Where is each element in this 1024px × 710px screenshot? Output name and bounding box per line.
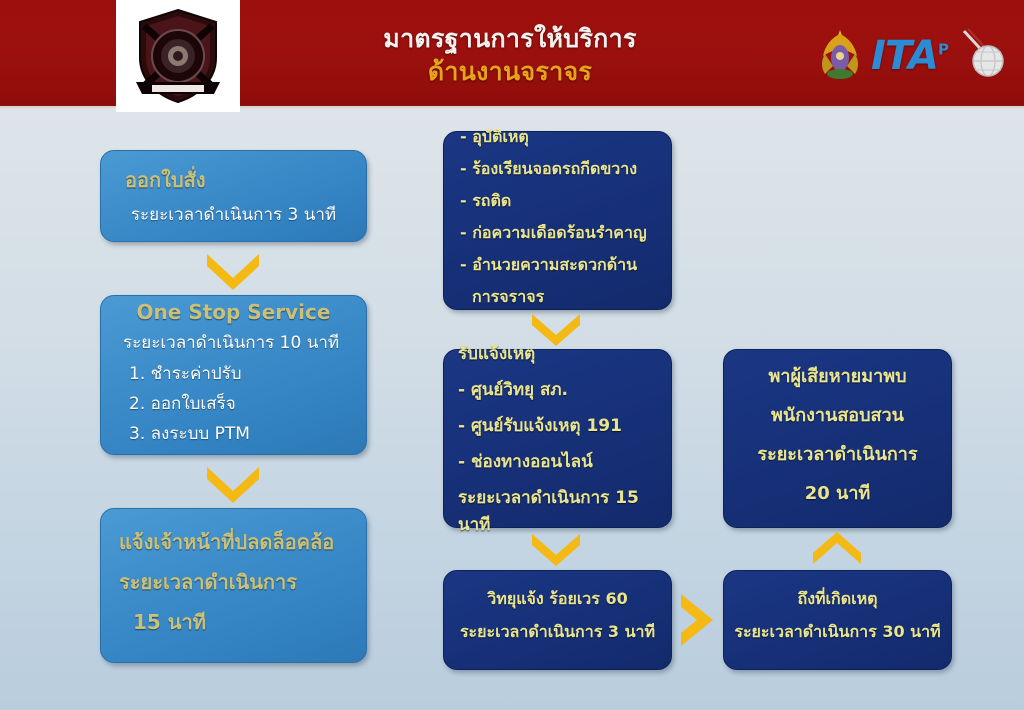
page-title-line2: ด้านงานจราจร [300, 55, 720, 88]
box-arrive-scene-line2: ระยะเวลาดำเนินการ 30 นาที [734, 620, 941, 645]
page-title: มาตรฐานการให้บริการ ด้านงานจราจร [300, 22, 720, 88]
box-one-stop-service-step-2: 2. ออกใบเสร็จ [129, 390, 344, 417]
receive-report-channel: - ศูนย์วิทยุ สภ. [458, 376, 657, 403]
box-unlock-wheel-clamp[interactable]: แจ้งเจ้าหน้าที่ปลดล็อคล้อ ระยะเวลาดำเนิน… [100, 508, 367, 663]
header-logo-group: ITAP [819, 26, 1006, 86]
arrow-up-icon [811, 532, 863, 566]
incident-type-item: - อุบัติเหตุ [460, 125, 655, 150]
ita-logo-superscript: P [938, 41, 948, 59]
box-bring-victim-line3: ระยะเวลาดำเนินการ [738, 439, 937, 468]
box-unlock-wheel-clamp-line2: ระยะเวลาดำเนินการ [119, 566, 348, 598]
box-radio-notify-line2: ระยะเวลาดำเนินการ 3 นาที [456, 620, 659, 645]
box-one-stop-service-duration: ระยะเวลาดำเนินการ 10 นาที [123, 329, 344, 356]
box-bring-victim-line4: 20 นาที [738, 478, 937, 507]
box-bring-victim-line1: พาผู้เสียหายมาพบ [738, 361, 937, 390]
box-radio-notify[interactable]: วิทยุแจ้ง ร้อยเวร 60 ระยะเวลาดำเนินการ 3… [443, 570, 672, 670]
incident-type-item: - ร้องเรียนจอดรถกีดขวาง [460, 157, 655, 182]
box-incident-types[interactable]: - อุบัติเหตุ - ร้องเรียนจอดรถกีดขวาง - ร… [443, 131, 672, 310]
arrow-down-icon [205, 252, 261, 290]
ita-logo-text: ITA [871, 33, 938, 79]
box-radio-notify-line1: วิทยุแจ้ง ร้อยเวร 60 [456, 587, 659, 612]
receive-report-channel: - ช่องทางออนไลน์ [458, 448, 657, 475]
box-arrive-scene-line1: ถึงที่เกิดเหตุ [734, 587, 941, 612]
box-one-stop-service-title: One Stop Service [123, 300, 344, 324]
box-arrive-scene[interactable]: ถึงที่เกิดเหตุ ระยะเวลาดำเนินการ 30 นาที [723, 570, 952, 670]
incident-type-item-continuation: การจราจร [472, 285, 655, 310]
box-issue-ticket-duration: ระยะเวลาดำเนินการ 3 นาที [115, 201, 352, 228]
box-unlock-wheel-clamp-line3: 15 นาที [133, 606, 348, 638]
incident-type-item: - ก่อความเดือดร้อนรำคาญ [460, 221, 655, 246]
box-issue-ticket[interactable]: ออกใบสั่ง ระยะเวลาดำเนินการ 3 นาที [100, 150, 367, 242]
box-receive-report[interactable]: รับแจ้งเหตุ - ศูนย์วิทยุ สภ. - ศูนย์รับแ… [443, 349, 672, 528]
thai-royal-garuda-emblem [819, 28, 861, 84]
incident-type-item: - อำนวยความสะดวกด้าน [460, 253, 655, 278]
shield-icon [130, 6, 226, 106]
ita-logo: ITAP [871, 36, 948, 76]
box-receive-report-title: รับแจ้งเหตุ [458, 340, 657, 367]
arrow-right-icon [679, 592, 715, 648]
arrow-down-icon [530, 532, 582, 566]
incident-type-item: - รถติด [460, 189, 655, 214]
silver-globe-emblem [958, 27, 1006, 85]
arrow-down-icon [205, 465, 261, 503]
page-title-line1: มาตรฐานการให้บริการ [300, 22, 720, 55]
box-receive-report-duration: ระยะเวลาดำเนินการ 15 นาที [458, 484, 657, 538]
box-one-stop-service-step-1: 1. ชำระค่าปรับ [129, 360, 344, 387]
box-issue-ticket-title: ออกใบสั่ง [125, 164, 352, 196]
box-bring-victim[interactable]: พาผู้เสียหายมาพบ พนักงานสอบสวน ระยะเวลาด… [723, 349, 952, 528]
receive-report-channel: - ศูนย์รับแจ้งเหตุ 191 [458, 412, 657, 439]
police-station-shield-emblem [116, 0, 240, 112]
box-one-stop-service-step-3: 3. ลงระบบ PTM [129, 420, 344, 447]
box-one-stop-service[interactable]: One Stop Service ระยะเวลาดำเนินการ 10 นา… [100, 295, 367, 455]
box-bring-victim-line2: พนักงานสอบสวน [738, 400, 937, 429]
box-unlock-wheel-clamp-line1: แจ้งเจ้าหน้าที่ปลดล็อคล้อ [119, 526, 348, 558]
slide-canvas: มาตรฐานการให้บริการ ด้านงานจราจร ITAP [0, 0, 1024, 710]
